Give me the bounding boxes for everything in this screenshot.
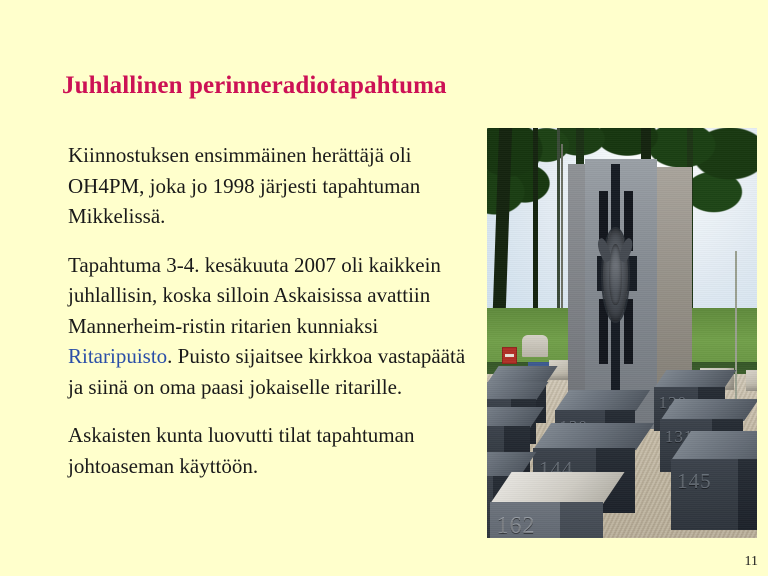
stone-top — [555, 390, 650, 411]
body-text-column: Kiinnostuksen ensimmäinen herättäjä oli … — [68, 140, 468, 481]
stone-top — [671, 431, 757, 461]
memorial-stone: 145 — [671, 431, 757, 529]
ritaripuisto-link[interactable]: Ritaripuisto — [68, 344, 167, 368]
paragraph-2: Tapahtuma 3-4. kesäkuuta 2007 oli kaikke… — [68, 250, 468, 403]
paragraph-3: Askaisten kunta luovutti tilat tapahtuma… — [68, 420, 468, 481]
stone-top — [533, 423, 654, 450]
page-number: 11 — [745, 554, 758, 570]
stone-front — [490, 502, 560, 538]
stone-top — [490, 472, 625, 504]
stone-front — [671, 459, 738, 530]
lamp-post — [735, 251, 737, 399]
paragraph-1: Kiinnostuksen ensimmäinen herättäjä oli … — [68, 140, 468, 232]
paragraph-2-text-before-link: Tapahtuma 3-4. kesäkuuta 2007 oli kaikke… — [68, 253, 441, 338]
mannerheim-cross-emblem — [603, 229, 627, 321]
photo-scene: 119 120 130 — [487, 128, 757, 538]
tree-trunk — [557, 128, 560, 317]
cross-cutout — [624, 299, 633, 364]
memorial-stone: 162 — [490, 472, 603, 538]
stone-top — [487, 366, 558, 383]
light-granite-block — [746, 370, 757, 391]
stone-side — [560, 502, 603, 538]
stone-top — [654, 370, 737, 388]
stone-side — [738, 459, 757, 530]
pale-headstone — [522, 335, 548, 357]
monument-center-slab — [585, 159, 657, 430]
slide: Juhlallinen perinneradiotapahtuma Kiinno… — [0, 0, 768, 576]
page-title: Juhlallinen perinneradiotapahtuma — [62, 72, 682, 101]
memorial-park-photo: 119 120 130 — [487, 128, 757, 538]
stone-top — [660, 399, 757, 421]
red-sign — [502, 347, 517, 364]
